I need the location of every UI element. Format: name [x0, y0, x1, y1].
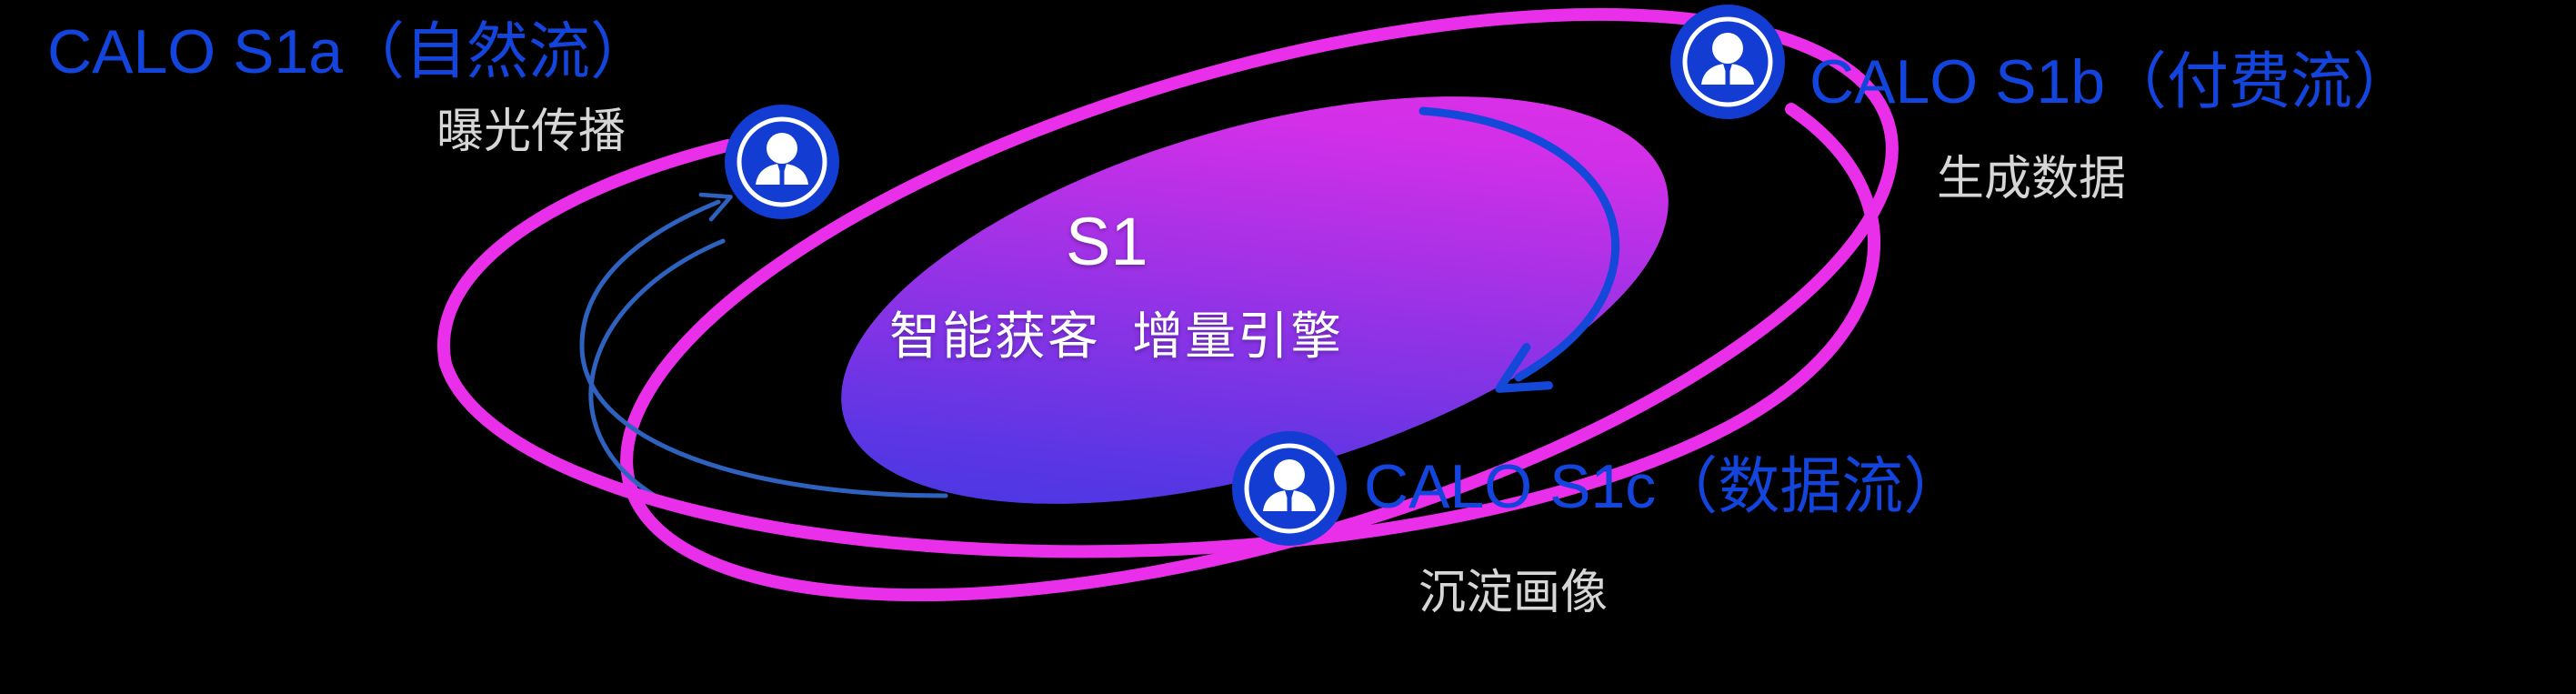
- stream-subtitle-s1c: 沉淀画像: [1418, 568, 1608, 619]
- node-s1a[interactable]: [725, 105, 839, 219]
- diagram-canvas: S1 智能获客 增量引擎 CALO S1a（自然流） 曝光传播 CALO S1b…: [0, 0, 2576, 694]
- node-s1c[interactable]: [1232, 431, 1347, 546]
- stream-title-s1a: CALO S1a（自然流）: [47, 20, 652, 85]
- stream-title-s1b: CALO S1b（付费流）: [1809, 50, 2414, 115]
- core-title: S1: [1066, 203, 1148, 280]
- stream-subtitle-s1a: 曝光传播: [436, 107, 626, 157]
- node-s1b[interactable]: [1670, 5, 1785, 119]
- stream-subtitle-s1b: 生成数据: [1937, 155, 2126, 205]
- core-subtitle: 智能获客 增量引擎: [889, 296, 1343, 369]
- stream-title-s1c: CALO S1c（数据流）: [1364, 455, 1965, 519]
